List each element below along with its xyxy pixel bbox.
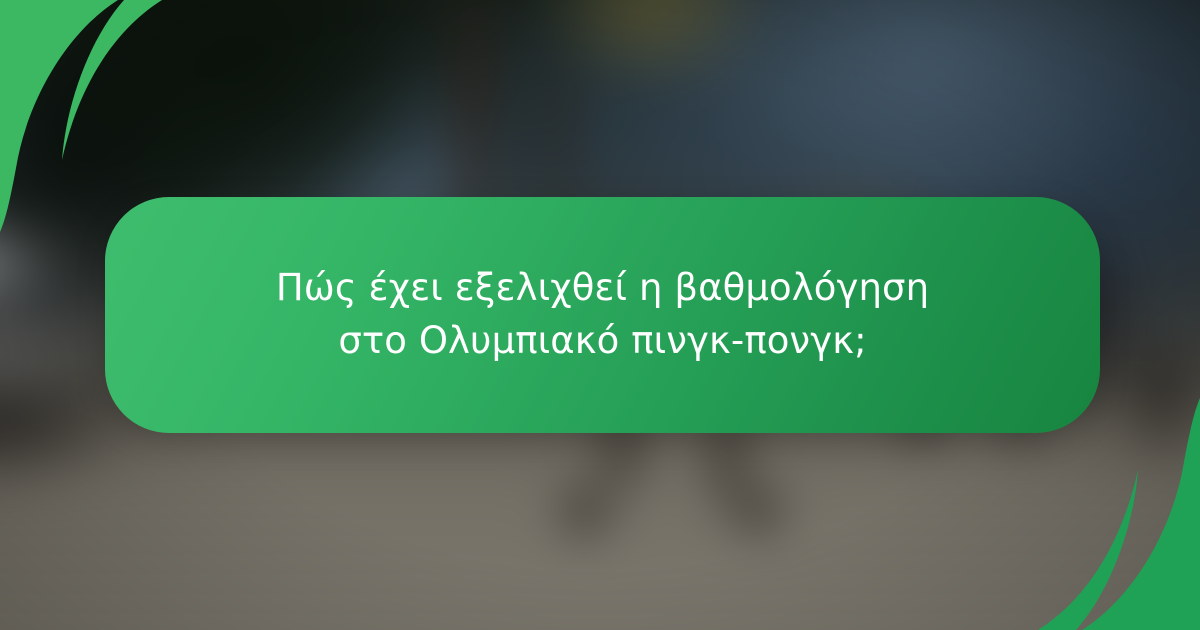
page-title: Πώς έχει εξελιχθεί η βαθμολόγηση στο Ολυ…: [183, 262, 1023, 367]
og-share-card: Πώς έχει εξελιχθεί η βαθμολόγηση στο Ολυ…: [0, 0, 1200, 630]
title-card: Πώς έχει εξελιχθεί η βαθμολόγηση στο Ολυ…: [105, 197, 1100, 433]
